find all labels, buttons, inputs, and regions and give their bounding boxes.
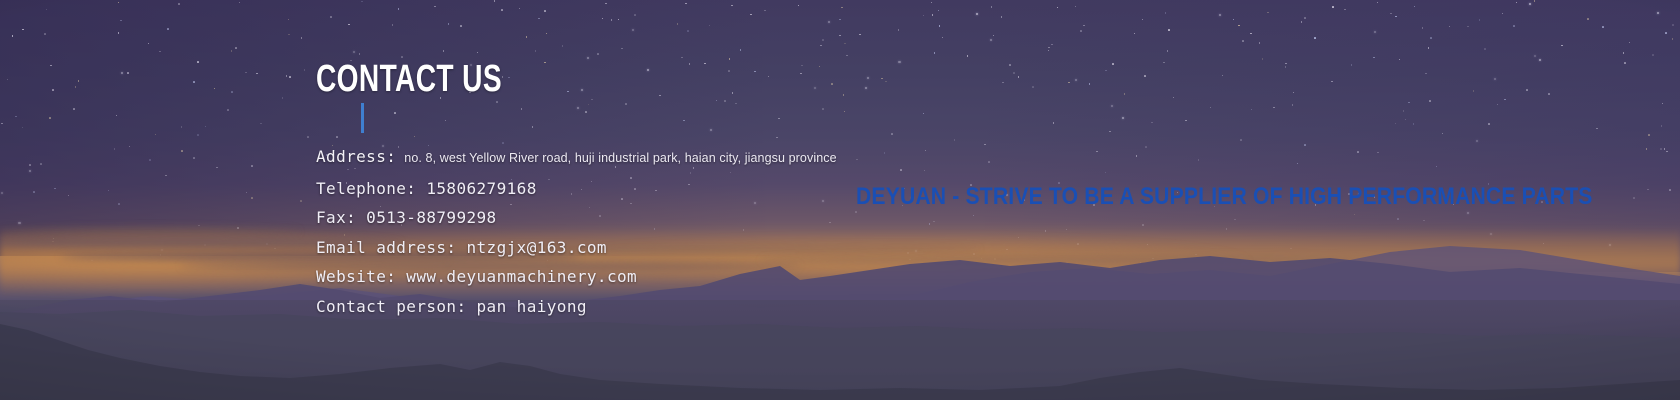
address-label: Address: — [316, 142, 396, 172]
company-tagline: DEYUAN - STRIVE TO BE A SUPPLIER OF HIGH… — [856, 183, 1593, 211]
contact-line-fax: Fax: 0513-88799298 — [316, 203, 837, 233]
page-title: CONTACT US — [316, 59, 502, 99]
title-accent-bar — [361, 103, 364, 133]
address-value: no. 8, west Yellow River road, huji indu… — [404, 144, 836, 174]
contact-line-contact-person: Contact person: pan haiyong — [316, 292, 837, 322]
contact-banner: CONTACT US Address: no. 8, west Yellow R… — [0, 0, 1680, 400]
contact-line-website[interactable]: Website: www.deyuanmachinery.com — [316, 262, 837, 292]
contact-line-address: Address: no. 8, west Yellow River road, … — [316, 142, 837, 174]
contact-details-list: Address: no. 8, west Yellow River road, … — [316, 142, 837, 321]
banner-content: CONTACT US Address: no. 8, west Yellow R… — [0, 0, 1680, 400]
contact-line-email[interactable]: Email address: ntzgjx@163.com — [316, 233, 837, 263]
contact-line-telephone: Telephone: 15806279168 — [316, 174, 837, 204]
